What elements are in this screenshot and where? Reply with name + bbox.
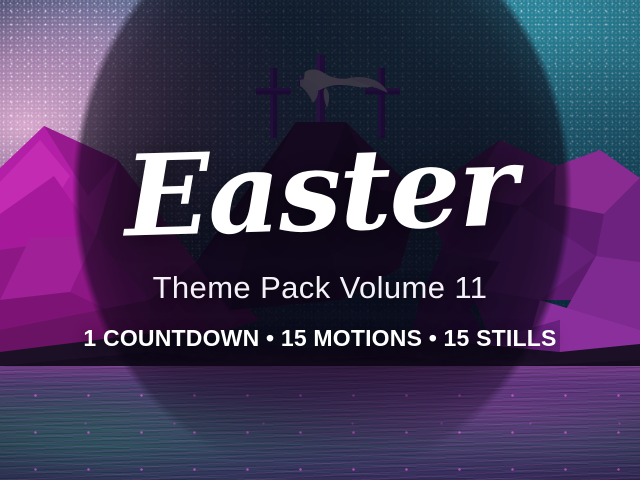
poster-subtitle: Theme Pack Volume 11 — [0, 272, 640, 303]
easter-theme-pack-poster: Easter Theme Pack Volume 11 1 COUNTDOWN … — [0, 0, 640, 480]
poster-text-content: Easter Theme Pack Volume 11 1 COUNTDOWN … — [0, 0, 640, 480]
poster-features-line: 1 COUNTDOWN • 15 MOTIONS • 15 STILLS — [0, 327, 640, 350]
page-title: Easter — [0, 127, 640, 257]
